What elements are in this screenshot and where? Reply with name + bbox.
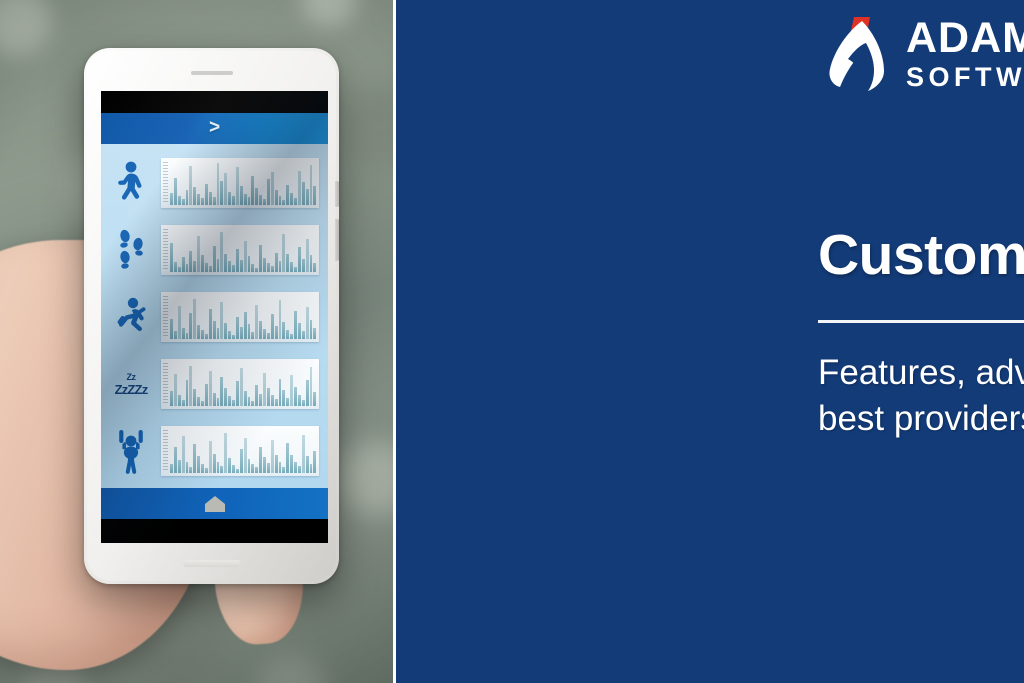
chart-bar — [220, 302, 223, 339]
chart-bar — [313, 392, 316, 406]
chart-bar — [255, 385, 258, 406]
chart-bar — [271, 440, 274, 473]
chart-bar — [236, 317, 239, 339]
chart-bar — [205, 384, 208, 406]
chart-bar — [174, 447, 177, 473]
chart-bar — [201, 330, 204, 339]
chart-bar — [259, 447, 262, 473]
chart-bar — [197, 397, 200, 406]
chart-bar — [263, 457, 266, 473]
home-icon[interactable] — [205, 496, 225, 512]
chart-bar — [302, 435, 305, 473]
chart-bar — [271, 266, 274, 272]
chart-bar — [251, 464, 254, 473]
chart-bar — [232, 465, 235, 473]
chart-bar — [294, 311, 297, 339]
chart-bar — [220, 181, 223, 205]
chart-bar — [310, 367, 313, 406]
chart-bar — [197, 236, 200, 272]
chart-bar — [205, 334, 208, 339]
chart-bar — [275, 399, 278, 406]
chart-bar — [244, 241, 247, 272]
sleep-zzz-bottom: ZzZZz — [115, 383, 148, 396]
chart-bar — [205, 468, 208, 473]
chart-bar — [251, 332, 254, 339]
smartphone-device: > — [84, 48, 339, 584]
chart-bar — [174, 374, 177, 406]
chart-bar — [232, 265, 235, 272]
chart-bar — [201, 464, 204, 473]
subtitle-line-1: Features, advantages, & — [818, 350, 1024, 396]
chart-bar — [294, 462, 297, 473]
chart-bar — [228, 396, 231, 406]
chart-bar — [313, 451, 316, 473]
chart-bar — [310, 165, 313, 205]
activity-row-steps[interactable] — [107, 217, 319, 283]
chart-bar — [306, 307, 309, 339]
chart-bar — [197, 456, 200, 473]
chart-bar — [232, 335, 235, 339]
chart-bar — [236, 381, 239, 406]
chart-bar — [220, 232, 223, 272]
chart-bar — [298, 247, 301, 272]
chart-bar — [294, 267, 297, 272]
chart-bar — [224, 388, 227, 406]
chart-bar — [298, 323, 301, 339]
activity-row-sleep[interactable]: Zz ZzZZz — [107, 351, 319, 417]
chevron-right-icon[interactable]: > — [209, 118, 220, 137]
chart-bar — [255, 188, 258, 205]
chart-bar — [267, 179, 270, 205]
chart-bar — [174, 178, 177, 205]
chart-bar — [186, 380, 189, 406]
chart-bars — [170, 429, 316, 473]
title-divider-rule — [818, 320, 1024, 323]
chart-bar — [267, 388, 270, 406]
chart-bar — [189, 313, 192, 339]
chart-bar — [205, 263, 208, 272]
chart-bar — [310, 320, 313, 339]
exercise-arms-up-icon — [107, 422, 155, 480]
chart-bar — [213, 321, 216, 339]
chart-bar — [182, 257, 185, 272]
adamo-logo[interactable]: ADAMO SOFTWARE — [826, 13, 1024, 95]
chart-bar — [174, 262, 177, 272]
chart-bar — [213, 393, 216, 406]
promo-banner: > — [0, 0, 1024, 683]
chart-bar — [189, 251, 192, 272]
chart-bar — [290, 334, 293, 339]
chart-bar — [275, 455, 278, 473]
chart-bar — [213, 197, 216, 205]
adamo-swoosh-logo-icon — [826, 13, 890, 95]
chart-bar — [220, 377, 223, 406]
chart-bar — [189, 166, 192, 205]
chart-bar — [186, 190, 189, 205]
chart-bar — [186, 264, 189, 272]
chart-bar — [224, 433, 227, 473]
logo-name-primary: ADAMO — [906, 17, 1024, 60]
chart-bar — [286, 254, 289, 272]
chart-bar — [263, 199, 266, 205]
chart-bar — [232, 400, 235, 406]
chart-bar — [228, 458, 231, 473]
chart-bar — [298, 395, 301, 406]
phone-bezel: > — [87, 51, 336, 581]
chart-bar — [217, 259, 220, 272]
chart-bar — [298, 466, 301, 473]
chart-bar — [259, 321, 262, 339]
chart-bar — [193, 261, 196, 272]
chart-bar — [189, 467, 192, 473]
chart-bar — [182, 400, 185, 406]
chart-bar — [201, 401, 204, 406]
chart-bar — [170, 391, 173, 406]
activity-list: Zz ZzZZz — [101, 144, 328, 488]
page-subtitle: Features, advantages, & best providers — [818, 350, 1024, 441]
chart-bar — [251, 401, 254, 406]
chart-bar — [248, 459, 251, 473]
chart-bar — [224, 254, 227, 272]
chart-bar — [310, 255, 313, 272]
chart-bar — [170, 243, 173, 272]
chart-bar — [306, 239, 309, 272]
chart-bar — [178, 306, 181, 339]
chart-bar — [217, 163, 220, 205]
chart-bar — [228, 331, 231, 339]
chart-bar — [306, 189, 309, 205]
chart-bar — [232, 196, 235, 205]
chart-bar — [228, 261, 231, 272]
chart-bar — [193, 444, 196, 473]
chart-bar — [282, 390, 285, 406]
chart-y-axis — [163, 229, 168, 271]
chart-bar — [197, 325, 200, 339]
chart-bar — [174, 331, 177, 339]
chart-y-axis — [163, 162, 168, 204]
chart-bar — [279, 462, 282, 473]
chart-bar — [286, 398, 289, 406]
chart-bar — [220, 466, 223, 473]
chart-bar — [310, 464, 313, 473]
page-title: Custom Fitness App — [818, 222, 1024, 288]
walking-person-icon — [107, 154, 155, 212]
chart-bar — [178, 267, 181, 272]
logo-name-secondary: SOFTWARE — [906, 64, 1024, 91]
chart-bar — [259, 394, 262, 406]
activity-row-walking[interactable] — [107, 150, 319, 216]
chart-bar — [313, 263, 316, 272]
chart-bar — [244, 438, 247, 473]
chart-bar — [290, 193, 293, 205]
chart-bar — [294, 198, 297, 205]
chart-bar — [182, 328, 185, 339]
chart-bar — [271, 172, 274, 205]
chart-bar — [298, 171, 301, 205]
chart-bar — [217, 398, 220, 406]
app-footer-bar — [101, 488, 328, 519]
chart-bar — [263, 329, 266, 339]
chart-bar — [240, 327, 243, 339]
chart-y-axis — [163, 296, 168, 338]
footprints-icon — [107, 221, 155, 279]
sleep-zzz-icon: Zz ZzZZz — [107, 355, 155, 413]
chart-bar — [251, 264, 254, 272]
chart-bar — [240, 186, 243, 205]
subtitle-line-2: best providers — [818, 396, 1024, 442]
chart-bar — [282, 467, 285, 473]
activity-chart-walking[interactable] — [161, 158, 319, 208]
activity-row-running[interactable] — [107, 284, 319, 350]
chart-bar — [267, 263, 270, 272]
chart-y-axis — [163, 363, 168, 405]
home-button[interactable] — [183, 560, 241, 567]
chart-bar — [224, 173, 227, 205]
chart-bar — [263, 258, 266, 272]
fitness-app: > — [101, 113, 328, 519]
chart-bar — [209, 441, 212, 473]
chart-bar — [244, 312, 247, 339]
chart-bar — [170, 193, 173, 205]
chart-bar — [228, 192, 231, 205]
chart-bar — [193, 187, 196, 205]
chart-bar — [302, 400, 305, 406]
chart-bar — [279, 300, 282, 339]
activity-chart-steps[interactable] — [161, 225, 319, 275]
chart-bar — [275, 253, 278, 272]
chart-bar — [209, 371, 212, 406]
chart-bar — [170, 319, 173, 339]
activity-chart-exercise[interactable] — [161, 426, 319, 476]
chart-bar — [275, 326, 278, 339]
chart-bar — [236, 249, 239, 272]
chart-bar — [306, 456, 309, 473]
chart-bar — [209, 309, 212, 339]
activity-chart-running[interactable] — [161, 292, 319, 342]
chart-bar — [240, 449, 243, 473]
chart-bar — [248, 197, 251, 205]
chart-bar — [279, 379, 282, 406]
chart-bar — [182, 436, 185, 473]
chart-bar — [267, 333, 270, 339]
chart-bar — [248, 324, 251, 339]
chart-bar — [201, 255, 204, 272]
chart-bar — [182, 199, 185, 205]
chart-bar — [275, 190, 278, 205]
chart-bar — [201, 198, 204, 205]
chart-bar — [255, 268, 258, 272]
chart-bar — [290, 262, 293, 272]
chart-bar — [255, 467, 258, 473]
phone-screen: > — [101, 91, 328, 543]
chart-bar — [224, 323, 227, 339]
chart-bar — [240, 368, 243, 406]
chart-bar — [279, 261, 282, 272]
volume-up-button[interactable] — [335, 181, 339, 207]
chart-bar — [170, 464, 173, 473]
chart-bar — [263, 373, 266, 406]
chart-bar — [271, 314, 274, 339]
app-header-bar: > — [101, 113, 328, 144]
chart-bar — [251, 176, 254, 205]
chart-bar — [282, 200, 285, 205]
chart-bar — [259, 195, 262, 205]
chart-bar — [193, 299, 196, 339]
chart-bar — [209, 192, 212, 205]
chart-bar — [236, 167, 239, 205]
chart-bar — [244, 194, 247, 205]
chart-bar — [286, 185, 289, 205]
chart-bar — [313, 328, 316, 339]
chart-bar — [255, 305, 258, 339]
chart-bar — [248, 256, 251, 272]
chart-bar — [213, 454, 216, 473]
chart-bar — [193, 389, 196, 406]
chart-bar — [267, 463, 270, 473]
chart-bar — [313, 186, 316, 205]
chart-bar — [186, 333, 189, 339]
chart-bars — [170, 228, 316, 272]
chart-bar — [290, 455, 293, 473]
chart-bar — [306, 380, 309, 406]
chart-bar — [294, 387, 297, 406]
sleep-zzz-top: Zz — [115, 373, 148, 382]
chart-bar — [217, 462, 220, 473]
chart-bar — [282, 322, 285, 339]
chart-bar — [302, 259, 305, 272]
chart-bar — [259, 245, 262, 272]
chart-bars — [170, 362, 316, 406]
chart-bar — [178, 395, 181, 406]
earpiece-speaker — [191, 71, 233, 75]
chart-bar — [302, 331, 305, 339]
chart-bar — [178, 460, 181, 473]
chart-bars — [170, 161, 316, 205]
chart-bar — [236, 469, 239, 473]
chart-bar — [217, 328, 220, 339]
chart-bar — [302, 182, 305, 205]
chart-bar — [286, 330, 289, 339]
running-person-icon — [107, 288, 155, 346]
content-panel: ADAMO SOFTWARE Custom Fitness App Featur… — [396, 0, 1024, 683]
chart-bar — [244, 391, 247, 406]
chart-bars — [170, 295, 316, 339]
chart-bar — [282, 234, 285, 272]
chart-bar — [286, 443, 289, 473]
chart-bar — [186, 462, 189, 473]
chart-bar — [248, 397, 251, 406]
chart-bar — [279, 196, 282, 205]
chart-bar — [271, 395, 274, 406]
activity-chart-sleep[interactable] — [161, 359, 319, 409]
chart-bar — [209, 266, 212, 272]
activity-row-exercise[interactable] — [107, 418, 319, 484]
volume-down-button[interactable] — [335, 219, 339, 261]
chart-bar — [240, 260, 243, 272]
chart-bar — [197, 194, 200, 205]
chart-bar — [290, 375, 293, 406]
chart-bar — [178, 196, 181, 205]
phone-photo-panel: > — [0, 0, 393, 683]
chart-bar — [213, 246, 216, 272]
chart-bar — [205, 184, 208, 205]
chart-bar — [189, 366, 192, 406]
chart-y-axis — [163, 430, 168, 472]
